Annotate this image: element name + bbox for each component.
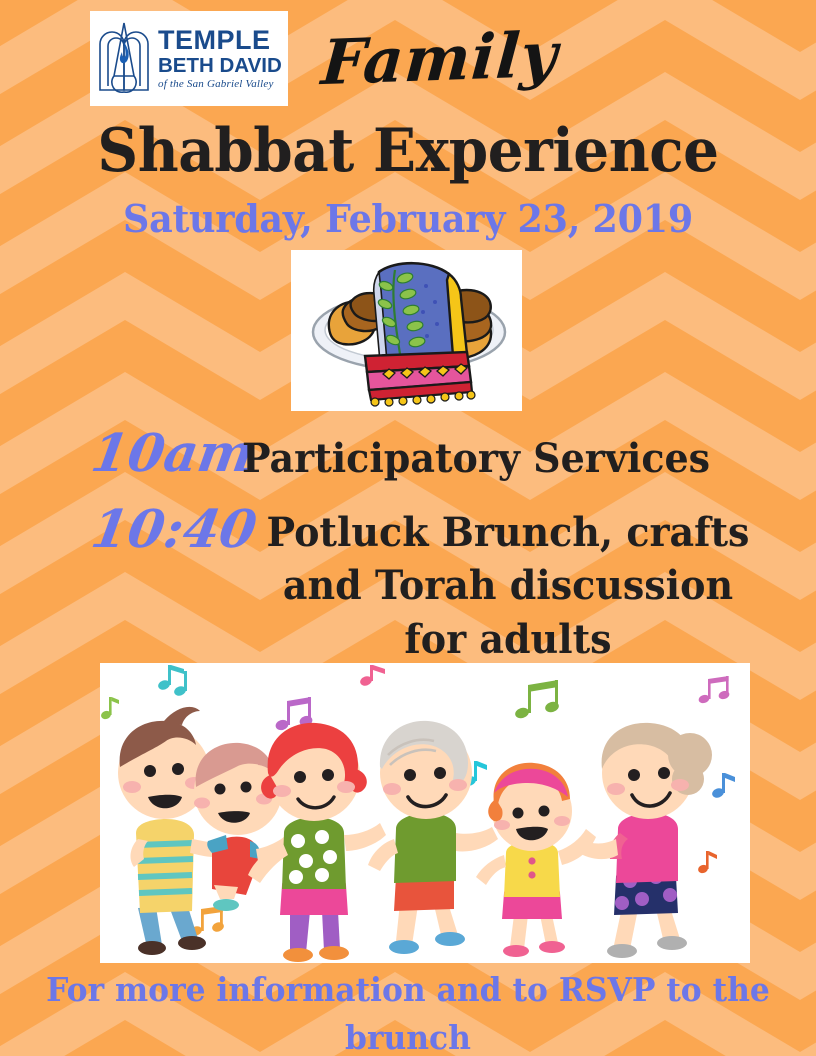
schedule-description-2-line3: for adults bbox=[242, 613, 774, 667]
challah-bread-image bbox=[291, 250, 522, 411]
footer-line-1: For more information and to RSVP to the … bbox=[20, 966, 795, 1056]
schedule-description-2: Potluck Brunch, crafts and Torah discuss… bbox=[242, 506, 774, 667]
schedule-description-1: Participatory Services bbox=[242, 432, 710, 486]
schedule-row-2: 10:40 Potluck Brunch, crafts and Torah d… bbox=[0, 504, 816, 667]
schedule-time-1: 10am bbox=[88, 428, 246, 480]
schedule-row-1: 10am Participatory Services bbox=[0, 428, 816, 486]
logo-line-temple: TEMPLE bbox=[158, 27, 282, 54]
temple-beth-david-logo: TEMPLE BETH DAVID of the San Gabriel Val… bbox=[90, 11, 288, 106]
event-date: Saturday, February 23, 2019 bbox=[16, 196, 799, 241]
schedule-block: 10am Participatory Services 10:40 Potluc… bbox=[0, 428, 816, 666]
dancing-children-image bbox=[100, 663, 750, 963]
schedule-time-2: 10:40 bbox=[88, 504, 246, 556]
kicker-family: Family bbox=[319, 18, 560, 99]
logo-line-tagline: of the San Gabriel Valley bbox=[158, 79, 282, 90]
footer-contact: For more information and to RSVP to the … bbox=[20, 966, 795, 1056]
flame-in-open-book-icon bbox=[96, 20, 152, 98]
logo-line-beth-david: BETH DAVID bbox=[158, 56, 282, 77]
schedule-description-2-line2: and Torah discussion bbox=[242, 559, 774, 613]
schedule-description-2-line1: Potluck Brunch, crafts bbox=[242, 506, 774, 560]
page-title: Shabbat Experience bbox=[24, 116, 791, 186]
logo-wordmark: TEMPLE BETH DAVID of the San Gabriel Val… bbox=[158, 27, 282, 91]
flyer-page: TEMPLE BETH DAVID of the San Gabriel Val… bbox=[0, 0, 816, 1056]
